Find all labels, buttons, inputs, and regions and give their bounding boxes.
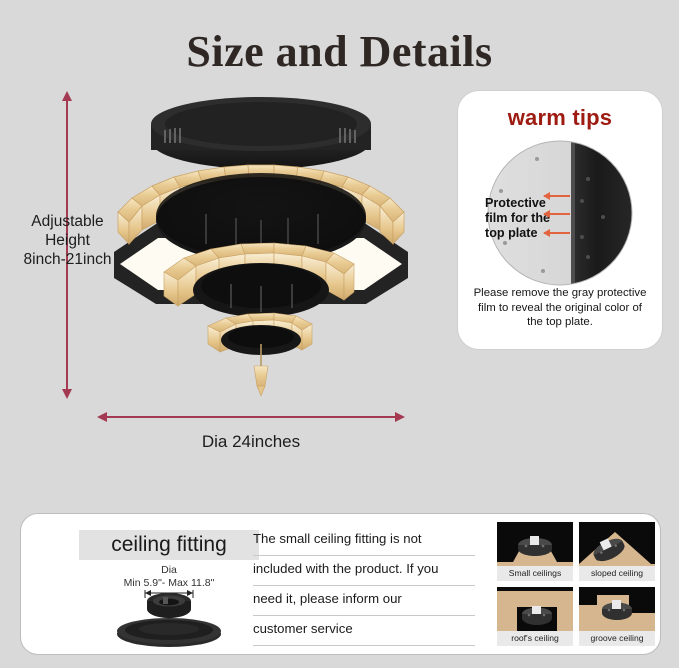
- warm-tips-caption: Please remove the gray protective film t…: [466, 286, 654, 330]
- thumbnail-roofs-ceiling: roof's ceiling: [497, 587, 573, 646]
- note-line: need it, please inform our: [253, 588, 475, 616]
- fitting-hardware-illustration: [99, 589, 239, 647]
- note-line: The small ceiling fitting is not: [253, 528, 475, 556]
- thumbnail-small-ceilings: Small ceilings: [497, 522, 573, 581]
- thumbnail-label: groove ceiling: [579, 631, 655, 646]
- ceiling-fitting-dia-label: Dia Min 5.9"- Max 11.8": [79, 564, 259, 590]
- product-image-chandelier: [96, 94, 426, 414]
- film-callout-arrow-3: [544, 232, 570, 234]
- note-line: included with the product. If you: [253, 558, 475, 586]
- thumbnail-label: roof's ceiling: [497, 631, 573, 646]
- thumbnail-label: sloped ceiling: [579, 566, 655, 581]
- height-label-line1: Adjustable: [0, 212, 135, 231]
- diameter-dimension-label: Dia 24inches: [106, 432, 396, 452]
- ceiling-fitting-note: The small ceiling fitting is not include…: [253, 528, 475, 648]
- caption-line1: Please remove the gray protective: [466, 286, 654, 301]
- film-label-line2: film for the: [485, 211, 589, 226]
- thumbnail-sloped-ceiling: sloped ceiling: [579, 522, 655, 581]
- height-label-line3: 8inch-21inch: [0, 250, 135, 269]
- height-dimension-label: Adjustable Height 8inch-21inch: [0, 212, 135, 269]
- ceiling-fitting-hardware-image: [99, 589, 239, 647]
- film-callout-arrow-2: [544, 213, 570, 215]
- ceiling-type-thumbnails: Small ceilings sloped ceiling: [497, 522, 655, 646]
- infographic-page: Size and Details: [0, 0, 679, 668]
- diameter-dimension-arrow: [106, 416, 396, 418]
- height-label-line2: Height: [0, 231, 135, 250]
- chandelier-illustration: [96, 94, 426, 414]
- page-title: Size and Details: [0, 26, 679, 77]
- protective-film-label: Protective film for the top plate: [485, 196, 589, 241]
- warm-tips-card: warm tips: [457, 90, 663, 350]
- ceiling-fitting-title: ceiling fitting: [79, 530, 259, 560]
- caption-line3: the top plate.: [466, 315, 654, 330]
- warm-tips-title: warm tips: [458, 105, 662, 131]
- caption-line2: film to reveal the original color of: [466, 301, 654, 316]
- thumbnail-groove-ceiling: groove ceiling: [579, 587, 655, 646]
- film-callout-arrow-1: [544, 195, 570, 197]
- note-line: customer service: [253, 618, 475, 646]
- fitting-dia-line1: Dia: [79, 564, 259, 577]
- film-label-line3: top plate: [485, 226, 589, 241]
- thumbnail-label: Small ceilings: [497, 566, 573, 581]
- ceiling-fitting-panel: ceiling fitting Dia Min 5.9"- Max 11.8": [20, 513, 661, 655]
- top-plate-diagram: Protective film for the top plate: [475, 139, 645, 287]
- film-label-line1: Protective: [485, 196, 589, 211]
